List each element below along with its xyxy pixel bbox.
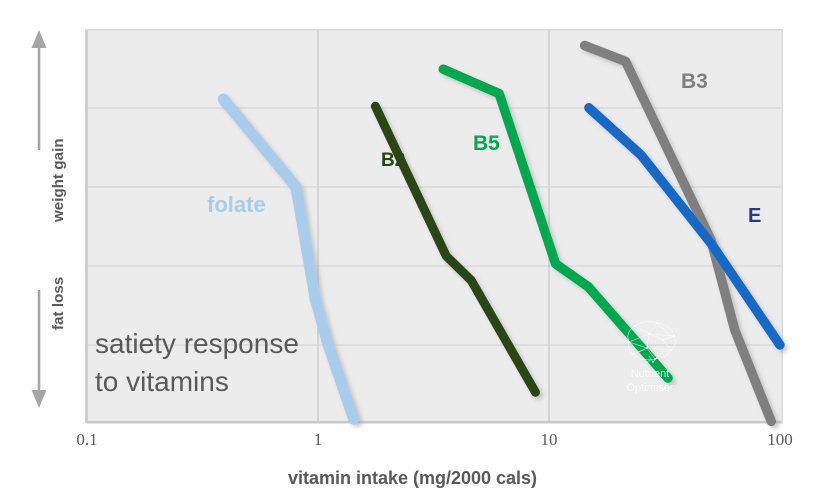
series-label-e: E	[748, 205, 761, 228]
series-label-folate: folate	[207, 192, 266, 218]
xtick-label-1: 1	[314, 430, 323, 450]
series-label-b2: B2	[381, 150, 405, 172]
arrow-up-icon	[32, 30, 47, 150]
xtick-label-2: 10	[541, 430, 558, 450]
arrow-down-icon	[32, 290, 47, 408]
chart-canvas: weight gain fat loss 0.1 1 10 100 vitami…	[0, 0, 825, 503]
yaxis-top-label: weight gain	[50, 138, 67, 222]
yaxis-bottom-label: fat loss	[50, 277, 67, 330]
caption-line-2: to vitamins	[95, 363, 299, 401]
xtick-label-0: 0.1	[76, 430, 97, 450]
caption-line-1: satiety response	[95, 325, 299, 363]
chart-caption: satiety response to vitamins	[95, 325, 299, 401]
xaxis-title: vitamin intake (mg/2000 cals)	[0, 468, 825, 489]
series-label-b3: B3	[681, 70, 708, 94]
xtick-label-3: 100	[767, 430, 793, 450]
series-label-b5: B5	[473, 132, 500, 156]
